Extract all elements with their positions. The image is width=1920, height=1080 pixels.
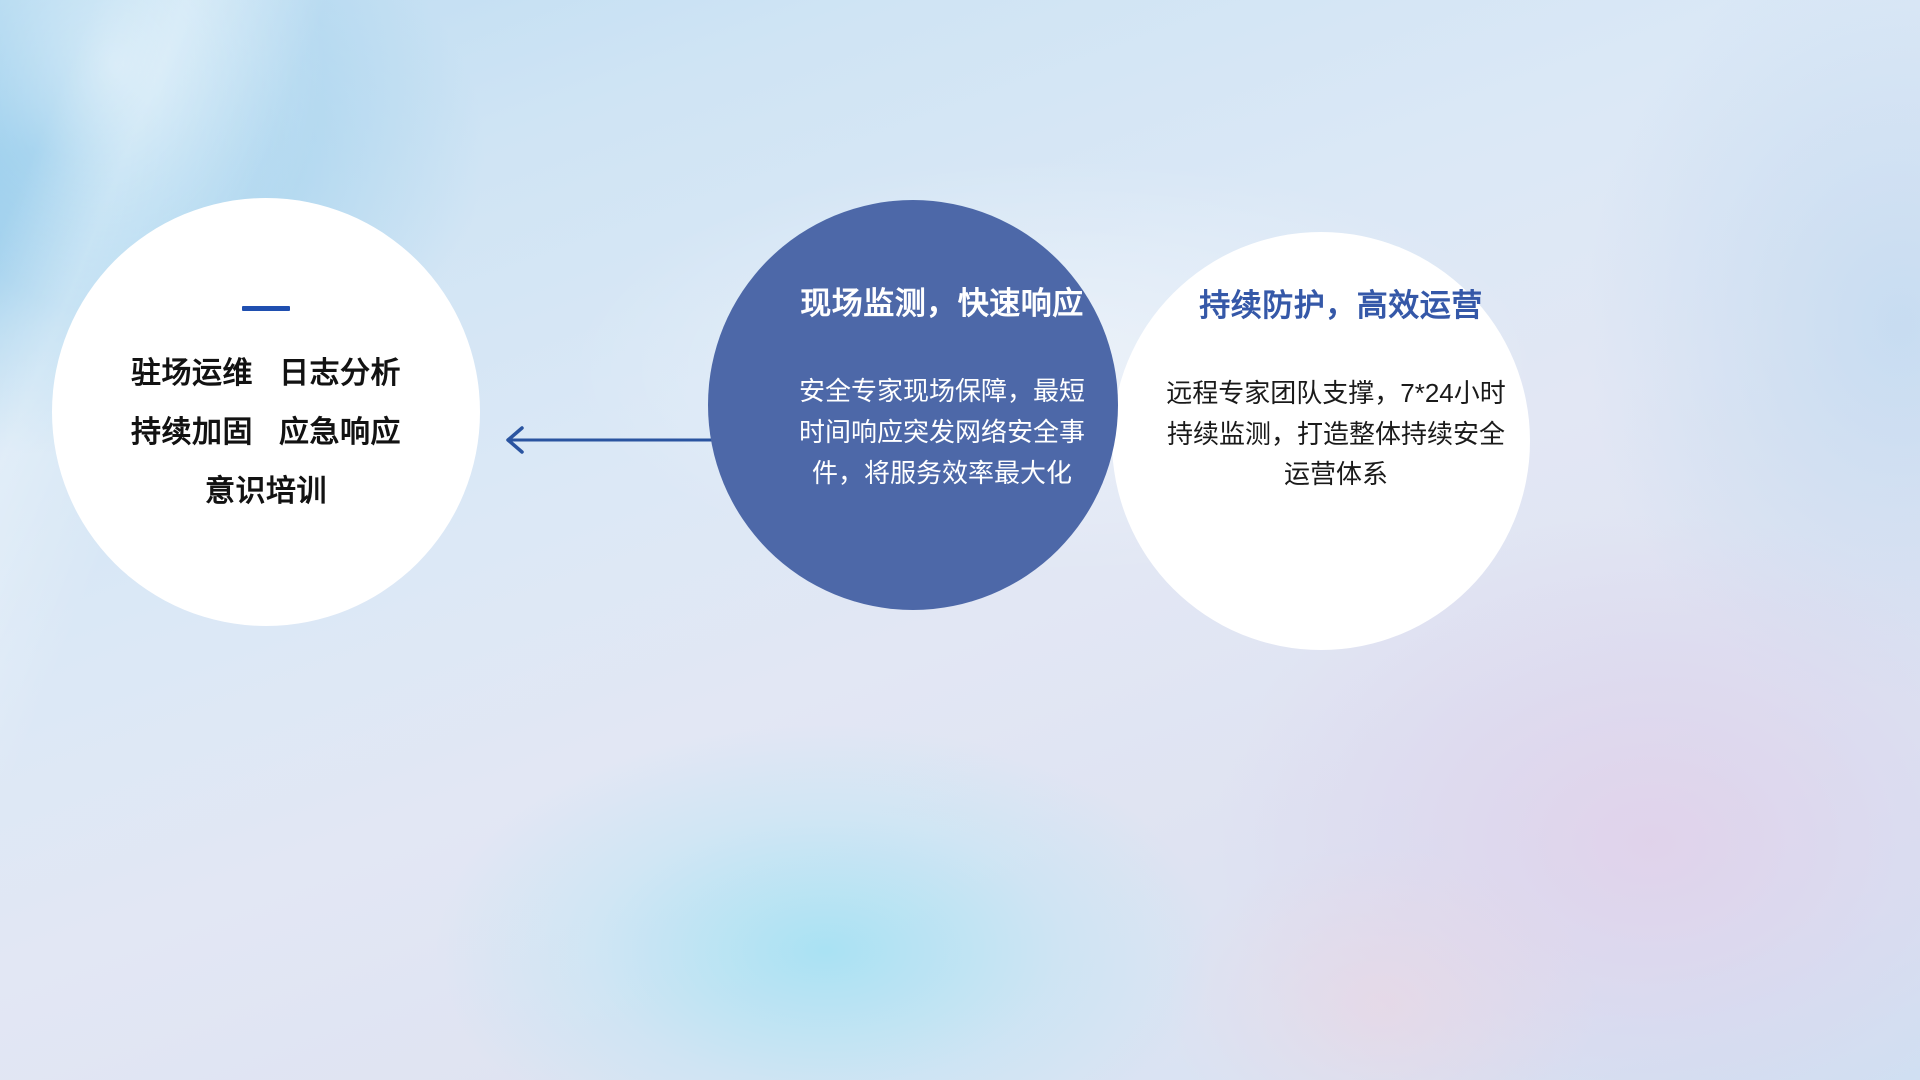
middle-circle-body: 安全专家现场保障，最短时间响应突发网络安全事件，将服务效率最大化 xyxy=(792,371,1092,494)
list-item: 持续加固应急响应 xyxy=(52,418,480,448)
capability-list: 驻场运维日志分析 持续加固应急响应 意识培训 xyxy=(52,359,480,507)
arrow-icon xyxy=(488,414,718,466)
capability-label: 意识培训 xyxy=(205,475,327,508)
capability-label: 应急响应 xyxy=(279,416,401,449)
list-item: 驻场运维日志分析 xyxy=(52,359,480,389)
capability-label: 驻场运维 xyxy=(131,357,253,390)
left-capability-circle: 驻场运维日志分析 持续加固应急响应 意识培训 xyxy=(52,198,480,626)
middle-circle-title: 现场监测，快速响应 xyxy=(800,278,1084,323)
capability-label: 日志分析 xyxy=(279,357,401,390)
middle-feature-circle: 现场监测，快速响应 安全专家现场保障，最短时间响应突发网络安全事件，将服务效率最… xyxy=(708,200,1118,610)
list-item: 意识培训 xyxy=(52,477,480,507)
slide-canvas: 驻场运维日志分析 持续加固应急响应 意识培训 持续防护，高效运营 远程专家团队支… xyxy=(0,0,1920,1080)
divider-dash xyxy=(242,306,290,311)
capability-label: 持续加固 xyxy=(131,416,253,449)
right-feature-circle: 持续防护，高效运营 远程专家团队支撑，7*24小时持续监测，打造整体持续安全运营… xyxy=(1112,232,1530,650)
right-circle-body: 远程专家团队支撑，7*24小时持续监测，打造整体持续安全运营体系 xyxy=(1158,373,1514,495)
right-circle-title: 持续防护，高效运营 xyxy=(1199,280,1483,325)
